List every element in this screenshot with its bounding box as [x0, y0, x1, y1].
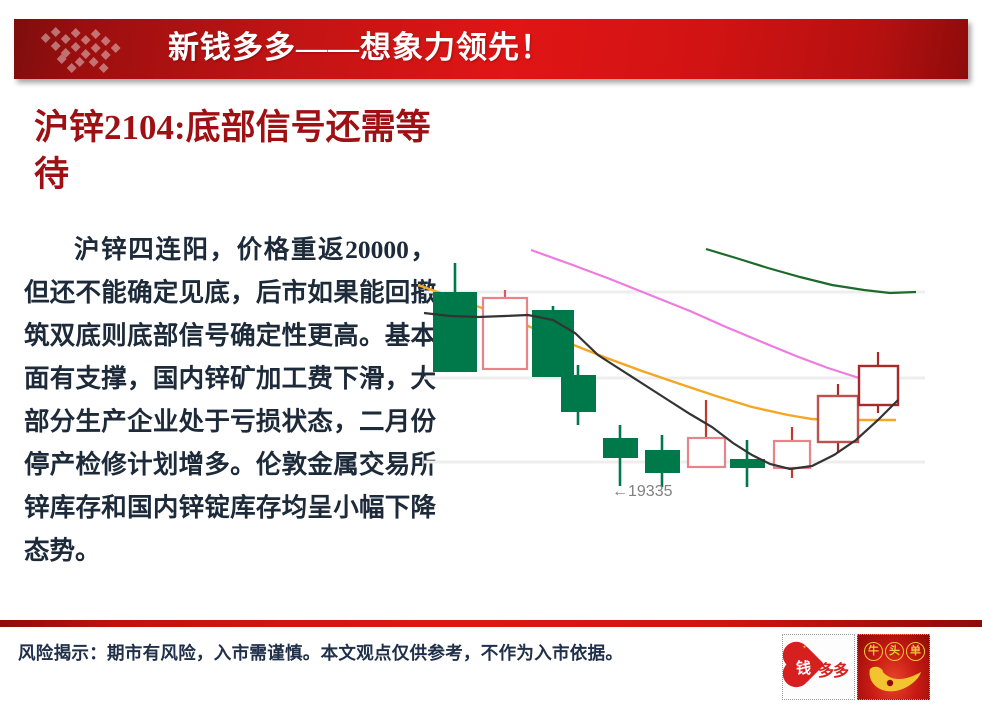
niutoudan-logo: 牛 头 单 [857, 634, 930, 700]
candlestick-chart: ←19335 [410, 225, 970, 525]
qianduoduo-logo-primary-text: 钱 [796, 657, 811, 678]
qianduoduo-logo-secondary-text: 多多 [818, 657, 848, 681]
footer-logos: ✦ 钱 多多 牛 头 单 [782, 634, 930, 700]
candle-4 [603, 425, 638, 486]
candle-8 [774, 427, 810, 478]
niutoudan-char-2: 单 [906, 642, 925, 661]
page-title: 沪锌2104:底部信号还需等待 [34, 104, 464, 198]
header-title: 新钱多多——想象力领先！ [168, 19, 552, 79]
niutoudan-char-0: 牛 [864, 642, 883, 661]
footer-divider [0, 620, 982, 627]
qianduoduo-logo: ✦ 钱 多多 [782, 634, 855, 700]
ma-line-darkgreen [706, 249, 916, 293]
ma-line-magenta [531, 250, 876, 383]
sparkle-icon: ✦ [802, 644, 807, 651]
chart-svg: ←19335 [410, 225, 970, 525]
chinese-knot-emblem-icon [28, 23, 138, 75]
header-banner: 新钱多多——想象力领先！ [14, 19, 968, 79]
candle-10 [859, 352, 898, 413]
candle-7 [730, 440, 765, 487]
candle-5 [645, 435, 680, 487]
niutoudan-char-1: 头 [885, 642, 904, 661]
price-annotation-label: ←19335 [612, 483, 673, 500]
body-paragraph: 沪锌四连阳，价格重返20000，但还不能确定见底，后市如果能回撤筑双底则底部信号… [24, 228, 436, 572]
golden-bull-icon [866, 663, 922, 695]
candle-1 [483, 290, 527, 369]
risk-disclaimer: 风险揭示：期市有风险，入市需谨慎。本文观点仅供参考，不作为入市依据。 [18, 640, 623, 665]
candlestick-series [433, 263, 898, 487]
